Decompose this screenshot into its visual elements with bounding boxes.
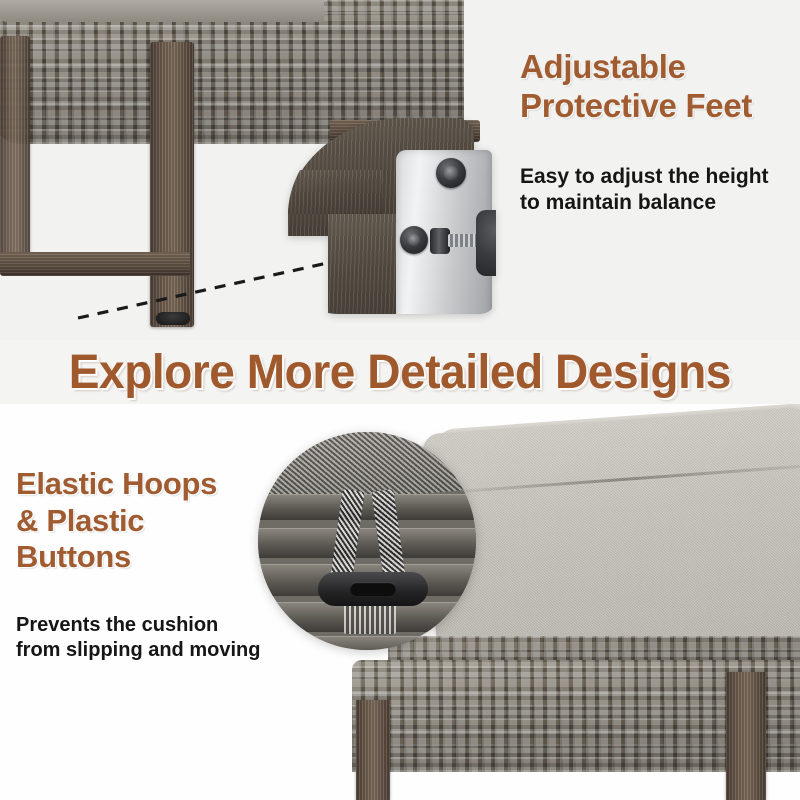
description-line-2: to maintain balance <box>520 190 800 216</box>
magnified-wicker-slat <box>258 494 476 520</box>
bolt-icon <box>436 158 466 188</box>
title-line-2: & Plastic <box>16 503 276 540</box>
metal-clip <box>344 604 396 634</box>
rubber-foot-pad <box>476 210 496 276</box>
section-banner: Explore More Detailed Designs <box>0 340 800 404</box>
magnified-leg-post <box>328 214 398 314</box>
title-line-1: Elastic Hoops <box>16 466 276 503</box>
title-line-2: Protective Feet <box>520 87 790 126</box>
feature-title-adjustable-feet: Adjustable Protective Feet <box>520 48 790 126</box>
bolt-icon <box>400 226 428 254</box>
infographic-canvas: Adjustable Protective Feet Easy to adjus… <box>0 0 800 800</box>
feature-description-adjustable-feet: Easy to adjust the height to maintain ba… <box>520 164 800 217</box>
frame-leg-rear <box>0 36 30 266</box>
frame-leg-bottom-left <box>356 700 390 800</box>
feature-title-elastic-hoops: Elastic Hoops & Plastic Buttons <box>16 466 276 576</box>
banner-headline: Explore More Detailed Designs <box>69 345 731 400</box>
description-line-1: Prevents the cushion <box>16 613 316 638</box>
plastic-toggle-button <box>318 572 428 606</box>
bottom-photo-group <box>0 404 800 800</box>
magnified-leg-arm <box>288 170 382 214</box>
frame-leg-bottom-right <box>726 672 766 800</box>
feature-description-elastic-hoops: Prevents the cushion from slipping and m… <box>16 613 316 663</box>
seat-lip <box>0 0 324 22</box>
callout-adjustable-foot <box>288 118 496 314</box>
screw-head <box>430 228 450 254</box>
feature-panel-adjustable-feet: Adjustable Protective Feet Easy to adjus… <box>0 0 800 348</box>
feature-panel-elastic-hoops: Elastic Hoops & Plastic Buttons Prevents… <box>0 404 800 800</box>
title-line-3: Buttons <box>16 539 276 576</box>
description-line-2: from slipping and moving <box>16 638 316 663</box>
title-line-1: Adjustable <box>520 48 790 87</box>
magnified-wicker-slat <box>258 528 476 558</box>
description-line-1: Easy to adjust the height <box>520 164 800 190</box>
